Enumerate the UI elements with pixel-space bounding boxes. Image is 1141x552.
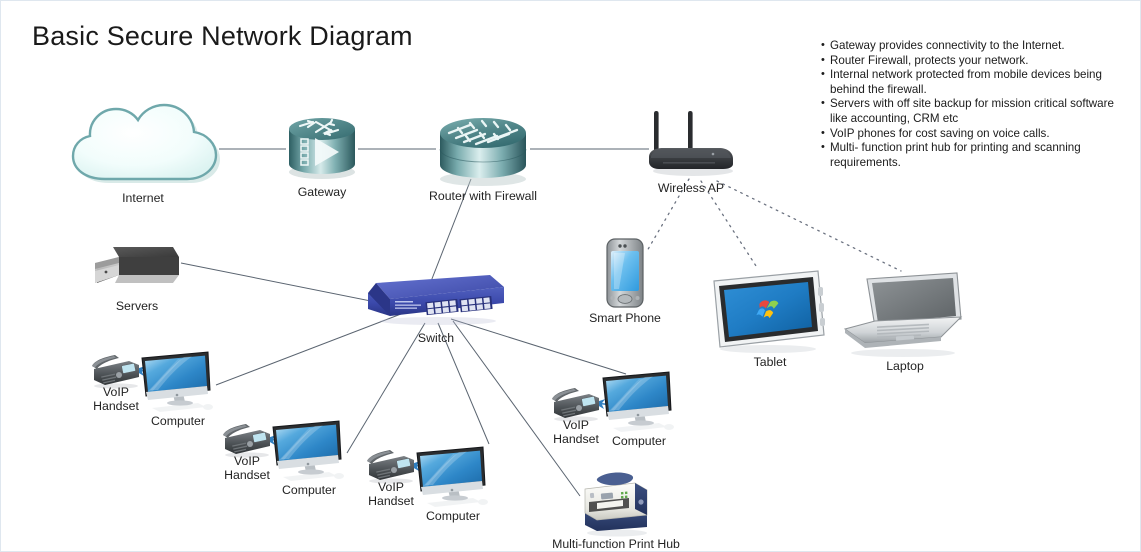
- node-router-firewall[interactable]: Router with Firewall: [436, 109, 530, 187]
- desktop-computer-icon: [271, 419, 347, 485]
- page-title: Basic Secure Network Diagram: [32, 21, 413, 52]
- bullet-icon: •: [821, 67, 825, 82]
- network-switch-icon: [364, 273, 508, 329]
- node-label-wireless-ap: Wireless AP: [633, 181, 749, 195]
- node-label-voip-handset: VoIP Handset: [362, 480, 420, 508]
- bullet-icon: •: [821, 140, 825, 155]
- laptop-icon: [841, 271, 965, 359]
- note-item: •VoIP phones for cost saving on voice ca…: [821, 127, 1121, 142]
- node-tablet[interactable]: Tablet: [706, 269, 830, 355]
- wireless-access-point-icon: [641, 109, 741, 179]
- cloud-icon: [63, 97, 223, 189]
- server-box-icon: [91, 241, 183, 299]
- node-switch[interactable]: Switch: [364, 273, 508, 329]
- bullet-icon: •: [821, 53, 825, 68]
- node-label-voip-handset: VoIP Handset: [218, 454, 276, 482]
- node-internet[interactable]: Internet: [63, 97, 223, 189]
- bullet-icon: •: [821, 126, 825, 141]
- voip-phone-icon: [220, 422, 274, 458]
- node-label-tablet: Tablet: [708, 355, 832, 369]
- node-voip-handset[interactable]: VoIP Handset: [89, 353, 143, 389]
- desktop-computer-icon: [140, 350, 216, 416]
- node-voip-handset[interactable]: VoIP Handset: [220, 422, 274, 458]
- notes-list: •Gateway provides connectivity to the In…: [821, 39, 1121, 170]
- node-printer[interactable]: Multi-function Print Hub: [577, 471, 655, 537]
- node-computer[interactable]: Computer: [601, 370, 673, 432]
- node-label-printer: Multi-function Print Hub: [543, 537, 689, 551]
- desktop-computer-icon: [601, 370, 677, 436]
- node-label-computer: Computer: [591, 434, 687, 448]
- node-label-internet: Internet: [63, 191, 223, 205]
- node-label-computer: Computer: [261, 483, 357, 497]
- node-servers[interactable]: Servers: [91, 241, 183, 299]
- node-voip-handset[interactable]: VoIP Handset: [549, 386, 603, 422]
- note-text: Router Firewall, protects your network.: [830, 54, 1028, 67]
- node-label-computer: Computer: [405, 509, 501, 523]
- tablet-icon: [706, 269, 830, 355]
- note-item: •Servers with off site backup for missio…: [821, 97, 1121, 126]
- note-text: Gateway provides connectivity to the Int…: [830, 39, 1065, 52]
- smartphone-icon: [605, 237, 645, 309]
- node-smart-phone[interactable]: Smart Phone: [605, 237, 645, 309]
- voip-phone-icon: [364, 448, 418, 484]
- desktop-computer-icon: [415, 445, 491, 511]
- multifunction-printer-icon: [577, 471, 655, 537]
- gateway-cylinder-icon: [286, 109, 358, 183]
- note-text: VoIP phones for cost saving on voice cal…: [830, 127, 1050, 140]
- node-gateway[interactable]: Gateway: [286, 109, 358, 183]
- voip-phone-icon: [89, 353, 143, 389]
- note-item: •Multi- function print hub for printing …: [821, 141, 1121, 170]
- note-text: Multi- function print hub for printing a…: [830, 141, 1081, 169]
- node-label-router-firewall: Router with Firewall: [413, 189, 553, 203]
- node-computer[interactable]: Computer: [415, 445, 487, 507]
- bullet-icon: •: [821, 38, 825, 53]
- node-label-switch: Switch: [382, 331, 490, 345]
- node-laptop[interactable]: Laptop: [841, 271, 965, 359]
- note-item: •Router Firewall, protects your network.: [821, 54, 1121, 69]
- node-label-computer: Computer: [130, 414, 226, 428]
- node-computer[interactable]: Computer: [140, 350, 212, 412]
- router-firewall-cylinder-icon: [436, 109, 530, 187]
- note-text: Internal network protected from mobile d…: [830, 68, 1102, 96]
- note-item: •Internal network protected from mobile …: [821, 68, 1121, 97]
- node-wireless-ap[interactable]: Wireless AP: [641, 109, 741, 179]
- voip-phone-icon: [549, 386, 603, 422]
- node-label-voip-handset: VoIP Handset: [87, 385, 145, 413]
- bullet-icon: •: [821, 96, 825, 111]
- note-item: •Gateway provides connectivity to the In…: [821, 39, 1121, 54]
- node-label-smart-phone: Smart Phone: [563, 311, 687, 325]
- node-voip-handset[interactable]: VoIP Handset: [364, 448, 418, 484]
- network-diagram-canvas: Basic Secure Network Diagram •Gateway pr…: [0, 0, 1141, 552]
- node-label-laptop: Laptop: [843, 359, 967, 373]
- node-label-gateway: Gateway: [270, 185, 374, 199]
- note-text: Servers with off site backup for mission…: [830, 97, 1114, 125]
- node-label-servers: Servers: [85, 299, 189, 313]
- node-computer[interactable]: Computer: [271, 419, 343, 481]
